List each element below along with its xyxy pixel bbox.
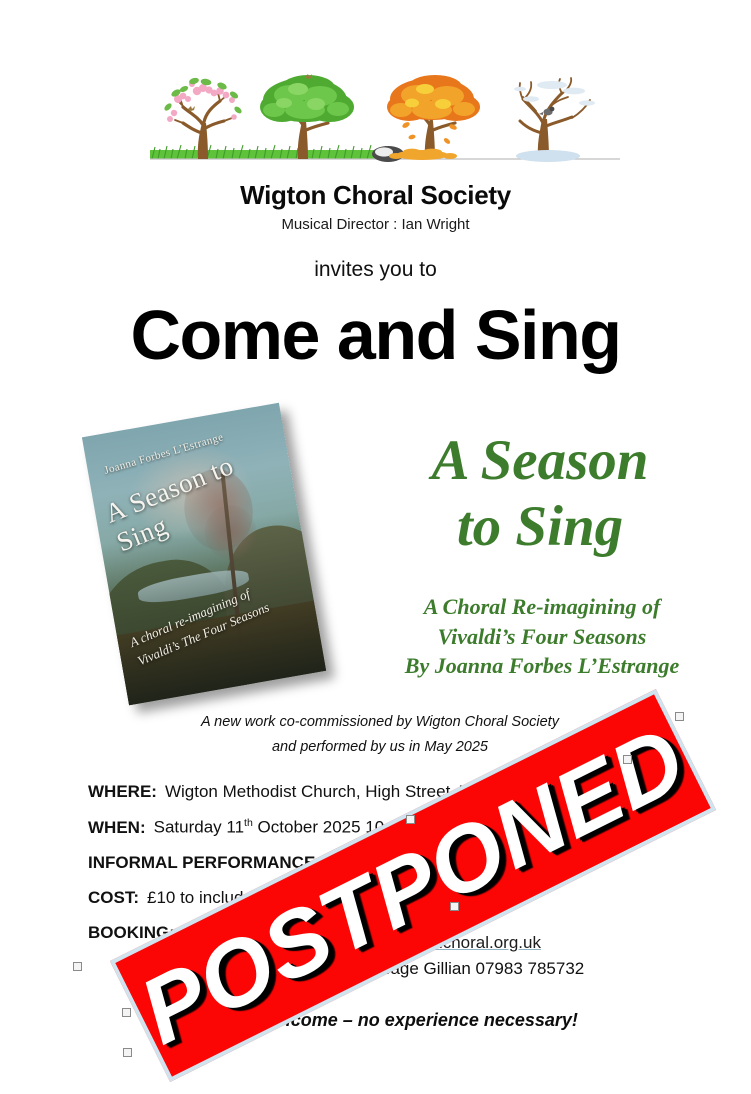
grass-strip-icon bbox=[150, 145, 400, 159]
detail-row-informal-performance: INFORMAL PERFORMANCE: 4.00pm – bring you… bbox=[88, 853, 708, 873]
detail-when-pre: Saturday 11 bbox=[154, 818, 244, 837]
detail-label-cost: COST: bbox=[88, 888, 139, 908]
work-subtitle-line2: Vivaldi’s Four Seasons bbox=[368, 622, 716, 652]
detail-when-post: October 2025 10.30am – 4.15pm bbox=[253, 818, 507, 837]
four-seasons-trees-svg bbox=[150, 55, 620, 165]
work-subtitle-line1: A Choral Re-imagining of bbox=[368, 592, 716, 622]
book-cover-art: Joanna Forbes L’Estrange A Season to Sin… bbox=[82, 403, 326, 706]
booking-phone-line: or message Gillian 07983 785732 bbox=[330, 956, 710, 982]
commission-line2: and performed by us in May 2025 bbox=[120, 735, 640, 760]
selection-handle-top-center[interactable] bbox=[406, 815, 415, 824]
booking-email-link[interactable]: admin@wigtonchoral.org.uk bbox=[330, 933, 541, 952]
work-title: A Season to Sing bbox=[370, 428, 710, 559]
detail-label-informal: INFORMAL PERFORMANCE: bbox=[88, 853, 321, 873]
bird-on-branch-icon bbox=[539, 107, 554, 116]
detail-when-ordinal: th bbox=[244, 817, 253, 829]
selection-handle-right-top[interactable] bbox=[623, 755, 632, 764]
selection-handle-top-right[interactable] bbox=[675, 712, 684, 721]
work-title-line1: A Season bbox=[370, 428, 710, 494]
selection-handle-left-center[interactable] bbox=[122, 1008, 131, 1017]
detail-label-when: WHEN: bbox=[88, 818, 146, 838]
work-title-line2: to Sing bbox=[370, 494, 710, 560]
winter-tree-icon bbox=[514, 78, 595, 162]
commission-line1: A new work co-commissioned by Wigton Cho… bbox=[120, 710, 640, 735]
selection-handle-bottom-center[interactable] bbox=[123, 1048, 132, 1057]
detail-value-cost: £10 to include music & refreshments bbox=[147, 888, 422, 908]
summer-tree-icon bbox=[260, 74, 404, 162]
detail-row-cost: COST: £10 to include music & refreshment… bbox=[88, 888, 708, 908]
snow-mound-icon bbox=[516, 150, 580, 162]
selection-handle-right-center[interactable] bbox=[450, 902, 459, 911]
book-cover-image: Joanna Forbes L’Estrange A Season to Sin… bbox=[82, 403, 326, 706]
invites-line: invites you to bbox=[0, 258, 751, 282]
seasons-tree-banner bbox=[150, 55, 620, 165]
commission-note: A new work co-commissioned by Wigton Cho… bbox=[120, 710, 640, 761]
spring-tree-icon bbox=[163, 77, 243, 159]
poster-canvas: Wigton Choral Society Musical Director :… bbox=[0, 0, 751, 1094]
closing-line: Everyone Welcome – no experience necessa… bbox=[0, 1010, 751, 1031]
detail-value-where: Wigton Methodist Church, High Street, Wi… bbox=[165, 782, 589, 802]
detail-row-when: WHEN: Saturday 11th October 2025 10.30am… bbox=[88, 817, 708, 838]
society-name: Wigton Choral Society bbox=[0, 180, 751, 211]
headline: Come and Sing bbox=[0, 300, 751, 370]
booking-contact: admin@wigtonchoral.org.uk or message Gil… bbox=[330, 930, 710, 983]
detail-label-booking: BOOKING: bbox=[88, 923, 175, 943]
work-subtitle: A Choral Re-imagining of Vivaldi’s Four … bbox=[368, 592, 716, 681]
detail-value-informal: 4.00pm – bring your family! bbox=[329, 853, 534, 873]
work-subtitle-line3: By Joanna Forbes L’Estrange bbox=[368, 651, 716, 681]
detail-value-when: Saturday 11th October 2025 10.30am – 4.1… bbox=[154, 817, 507, 838]
autumn-tree-icon bbox=[387, 75, 480, 160]
detail-row-where: WHERE: Wigton Methodist Church, High Str… bbox=[88, 782, 708, 802]
selection-handle-bottom-left[interactable] bbox=[73, 962, 82, 971]
detail-label-where: WHERE: bbox=[88, 782, 157, 802]
musical-director-line: Musical Director : Ian Wright bbox=[0, 216, 751, 233]
